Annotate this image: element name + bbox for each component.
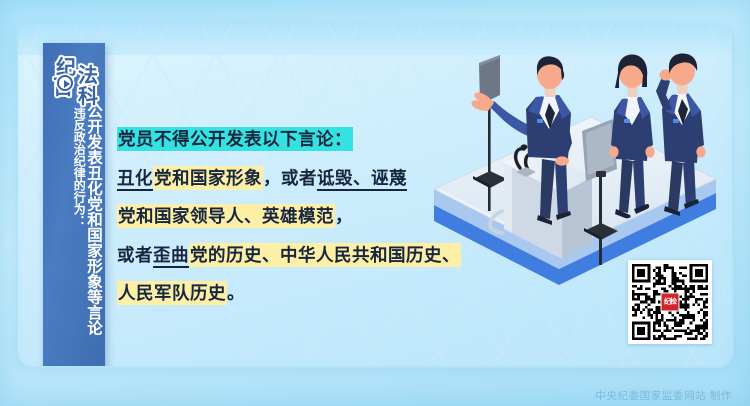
copy-line-4-plain: 或者 [117,245,153,265]
copy-line-2-underline-2: 诋毁、诬蔑 [317,168,407,191]
copy-line-2-plain: ，或者 [263,168,317,188]
credit-text: 中央纪委国家监委网站 制作 [595,388,732,403]
qr-center-logo: 纪检 [661,293,680,312]
copy-line-4: 或者歪曲党的历史、中华人民共和国历史、 [117,247,517,265]
qr-code-block[interactable]: 纪检 [628,260,712,344]
copy-line-3-highlight: 党和国家领导人、英雄模范 [117,204,335,228]
qr-code[interactable]: 纪检 [632,264,708,340]
copy-line-4-highlight: 党的历史、中华人民共和国历史、 [189,243,461,267]
banner-title-vertical: 公开发表丑化党和国家形象等言论 [85,103,101,366]
copy-line-4-underline: 歪曲 [153,245,189,268]
copy-line-1: 党员不得公开发表以下言论： [117,131,517,149]
copy-line-1-highlight: 党员不得公开发表以下言论： [117,127,353,151]
play-triangle-icon [57,75,73,91]
copy-line-5-highlight: 人民军队历史 [117,281,227,305]
copy-line-3: 党和国家领导人、英雄模范， [117,208,517,226]
copy-line-2-underline-1: 丑化 [117,168,153,191]
jifa-baike-logo: 纪 法 百 科 [48,51,110,111]
copy-line-5: 人民军队历史。 [117,285,517,303]
body-copy: 党员不得公开发表以下言论： 丑化党和国家形象，或者诋毁、诬蔑 党和国家领导人、英… [117,131,517,324]
copy-line-2: 丑化党和国家形象，或者诋毁、诬蔑 [117,170,517,188]
logo-glyph-ke: 科 [78,80,98,109]
copy-line-2-highlight: 党和国家形象 [153,166,263,190]
poster-inner-frame: 公开发表丑化党和国家形象等言论 违反政治纪律的行为： 纪 法 百 科 党员不得公… [18,25,732,366]
copy-line-5-plain: 。 [227,283,245,303]
poster-root: 公开发表丑化党和国家形象等言论 违反政治纪律的行为： 纪 法 百 科 党员不得公… [0,0,750,406]
copy-line-3-plain: ， [335,206,353,226]
banner-subtitle-vertical: 违反政治纪律的行为： [73,103,85,311]
